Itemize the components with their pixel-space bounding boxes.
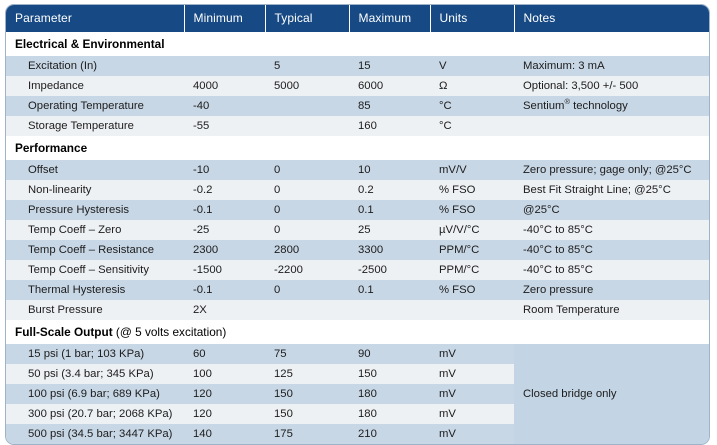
table-row: Temp Coeff – Resistance230028003300PPM/°… [6, 240, 709, 260]
column-header-units: Units [430, 5, 514, 32]
table-body: Electrical & EnvironmentalExcitation (In… [6, 32, 709, 444]
cell-minimum: 100 [184, 364, 265, 384]
table-row: Impedance400050006000ΩOptional: 3,500 +/… [6, 76, 709, 96]
cell-units: mV [430, 364, 514, 384]
cell-parameter: Temp Coeff – Zero [6, 220, 184, 240]
cell-notes: @25°C [514, 200, 709, 220]
cell-units: Ω [430, 76, 514, 96]
cell-parameter: 50 psi (3.4 bar; 345 KPa) [6, 364, 184, 384]
cell-typical [265, 116, 349, 136]
cell-parameter: Pressure Hysteresis [6, 200, 184, 220]
cell-typical [265, 300, 349, 320]
cell-minimum: 2300 [184, 240, 265, 260]
table-header: Parameter Minimum Typical Maximum Units … [6, 5, 709, 32]
cell-notes [514, 116, 709, 136]
table-row: Storage Temperature-55160°C [6, 116, 709, 136]
cell-maximum: -2500 [349, 260, 430, 280]
cell-typical: 5 [265, 56, 349, 76]
section-subtitle: (@ 5 volts excitation) [113, 325, 227, 339]
cell-minimum: -1500 [184, 260, 265, 280]
cell-units: mV [430, 384, 514, 404]
cell-typical: -2200 [265, 260, 349, 280]
table-row: Pressure Hysteresis-0.100.1% FSO@25°C [6, 200, 709, 220]
section-title: Full-Scale Output (@ 5 volts excitation) [6, 320, 709, 344]
cell-parameter: Storage Temperature [6, 116, 184, 136]
cell-minimum: -10 [184, 160, 265, 180]
cell-maximum: 3300 [349, 240, 430, 260]
table-row: Temp Coeff – Zero-25025µV/V/°C-40°C to 8… [6, 220, 709, 240]
cell-maximum [349, 300, 430, 320]
cell-units: % FSO [430, 180, 514, 200]
specification-table: Parameter Minimum Typical Maximum Units … [5, 4, 710, 445]
cell-parameter: Temp Coeff – Resistance [6, 240, 184, 260]
header-row: Parameter Minimum Typical Maximum Units … [6, 5, 709, 32]
cell-notes: Maximum: 3 mA [514, 56, 709, 76]
cell-minimum: -40 [184, 96, 265, 116]
cell-minimum: 120 [184, 404, 265, 424]
cell-maximum: 0.1 [349, 280, 430, 300]
cell-minimum: -0.1 [184, 200, 265, 220]
cell-maximum: 160 [349, 116, 430, 136]
cell-minimum: 120 [184, 384, 265, 404]
table-row: Burst Pressure2XRoom Temperature [6, 300, 709, 320]
cell-minimum: -25 [184, 220, 265, 240]
column-header-parameter: Parameter [6, 5, 184, 32]
cell-minimum: 140 [184, 424, 265, 444]
cell-maximum: 85 [349, 96, 430, 116]
cell-maximum: 6000 [349, 76, 430, 96]
cell-units: V [430, 56, 514, 76]
cell-notes: Room Temperature [514, 300, 709, 320]
merged-note-cell: Closed bridge only [514, 344, 709, 444]
cell-typical: 2800 [265, 240, 349, 260]
cell-maximum: 0.2 [349, 180, 430, 200]
cell-minimum: -0.2 [184, 180, 265, 200]
table-row: Offset-10010mV/VZero pressure; gage only… [6, 160, 709, 180]
cell-parameter: Non-linearity [6, 180, 184, 200]
column-header-notes: Notes [514, 5, 709, 32]
cell-typical: 75 [265, 344, 349, 364]
cell-units: % FSO [430, 200, 514, 220]
cell-typical: 175 [265, 424, 349, 444]
section-header-row: Full-Scale Output (@ 5 volts excitation) [6, 320, 709, 344]
cell-minimum: -0.1 [184, 280, 265, 300]
cell-maximum: 0.1 [349, 200, 430, 220]
cell-parameter: 100 psi (6.9 bar; 689 KPa) [6, 384, 184, 404]
cell-minimum: 60 [184, 344, 265, 364]
cell-notes: -40°C to 85°C [514, 240, 709, 260]
cell-notes: Best Fit Straight Line; @25°C [514, 180, 709, 200]
cell-units: mV [430, 404, 514, 424]
cell-notes: -40°C to 85°C [514, 260, 709, 280]
cell-parameter: Operating Temperature [6, 96, 184, 116]
cell-notes: Zero pressure [514, 280, 709, 300]
cell-notes: -40°C to 85°C [514, 220, 709, 240]
cell-parameter: Impedance [6, 76, 184, 96]
section-header-row: Performance [6, 136, 709, 160]
cell-notes: Zero pressure; gage only; @25°C [514, 160, 709, 180]
cell-maximum: 210 [349, 424, 430, 444]
table-row: 15 psi (1 bar; 103 KPa)607590mVClosed br… [6, 344, 709, 364]
cell-typical: 0 [265, 160, 349, 180]
cell-minimum [184, 56, 265, 76]
cell-typical: 150 [265, 404, 349, 424]
cell-units: % FSO [430, 280, 514, 300]
table-row: Operating Temperature-4085°CSentium® tec… [6, 96, 709, 116]
cell-units: mV [430, 344, 514, 364]
cell-minimum: 4000 [184, 76, 265, 96]
cell-units: mV/V [430, 160, 514, 180]
cell-typical: 150 [265, 384, 349, 404]
cell-parameter: 15 psi (1 bar; 103 KPa) [6, 344, 184, 364]
column-header-minimum: Minimum [184, 5, 265, 32]
cell-units: PPM/°C [430, 260, 514, 280]
column-header-typical: Typical [265, 5, 349, 32]
cell-maximum: 25 [349, 220, 430, 240]
cell-parameter: Burst Pressure [6, 300, 184, 320]
cell-units [430, 300, 514, 320]
cell-typical: 0 [265, 200, 349, 220]
cell-units: mV [430, 424, 514, 444]
section-header-row: Electrical & Environmental [6, 32, 709, 56]
table-row: Temp Coeff – Sensitivity-1500-2200-2500P… [6, 260, 709, 280]
cell-maximum: 180 [349, 384, 430, 404]
section-title: Performance [6, 136, 709, 160]
cell-maximum: 180 [349, 404, 430, 424]
cell-notes: Optional: 3,500 +/- 500 [514, 76, 709, 96]
cell-units: °C [430, 116, 514, 136]
cell-maximum: 15 [349, 56, 430, 76]
cell-typical: 5000 [265, 76, 349, 96]
spec-table: Parameter Minimum Typical Maximum Units … [6, 5, 709, 444]
cell-maximum: 90 [349, 344, 430, 364]
cell-parameter: Excitation (In) [6, 56, 184, 76]
cell-typical: 125 [265, 364, 349, 384]
cell-maximum: 150 [349, 364, 430, 384]
cell-typical: 0 [265, 180, 349, 200]
cell-parameter: 300 psi (20.7 bar; 2068 KPa) [6, 404, 184, 424]
registered-trademark-icon: ® [564, 97, 570, 106]
column-header-maximum: Maximum [349, 5, 430, 32]
cell-units: °C [430, 96, 514, 116]
table-row: Excitation (In)515VMaximum: 3 mA [6, 56, 709, 76]
cell-typical [265, 96, 349, 116]
cell-units: µV/V/°C [430, 220, 514, 240]
table-row: Non-linearity-0.200.2% FSOBest Fit Strai… [6, 180, 709, 200]
cell-minimum: 2X [184, 300, 265, 320]
cell-parameter: 500 psi (34.5 bar; 3447 KPa) [6, 424, 184, 444]
cell-maximum: 10 [349, 160, 430, 180]
cell-units: PPM/°C [430, 240, 514, 260]
section-title: Electrical & Environmental [6, 32, 709, 56]
cell-parameter: Temp Coeff – Sensitivity [6, 260, 184, 280]
cell-minimum: -55 [184, 116, 265, 136]
cell-notes: Sentium® technology [514, 96, 709, 116]
cell-typical: 0 [265, 220, 349, 240]
cell-parameter: Offset [6, 160, 184, 180]
cell-parameter: Thermal Hysteresis [6, 280, 184, 300]
table-row: Thermal Hysteresis-0.100.1% FSOZero pres… [6, 280, 709, 300]
cell-typical: 0 [265, 280, 349, 300]
